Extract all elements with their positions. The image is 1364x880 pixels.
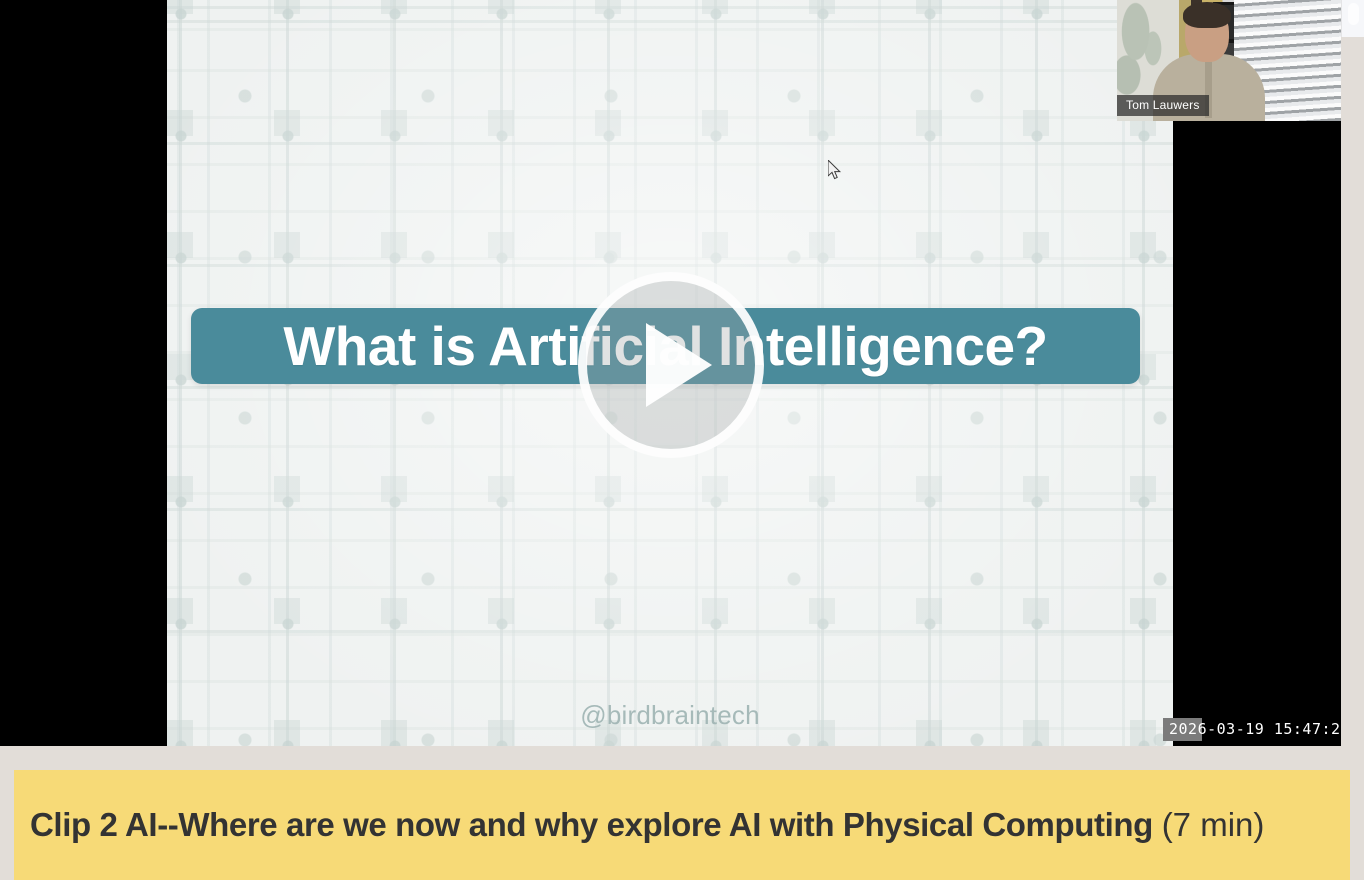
webcam-person-hair	[1183, 2, 1231, 28]
video-player-stage[interactable]: @birdbraintech What is Artificial Intell…	[0, 0, 1341, 746]
lesson-duration: (7 min)	[1162, 806, 1265, 843]
play-button[interactable]	[578, 272, 764, 458]
lesson-caption-text: Clip 2 AI--Where are we now and why expl…	[30, 806, 1264, 844]
timestamp-overlay: 2026-03-19 15:47:22	[1169, 720, 1341, 738]
webcam-pip[interactable]: Tom Lauwers	[1117, 0, 1341, 121]
lesson-caption-bar: Clip 2 AI--Where are we now and why expl…	[14, 770, 1350, 880]
scrollbar-thumb[interactable]	[1348, 3, 1359, 25]
webcam-participant-name: Tom Lauwers	[1117, 95, 1209, 116]
watermark-text: @birdbraintech	[167, 700, 1173, 731]
page-root: @birdbraintech What is Artificial Intell…	[0, 0, 1364, 880]
play-triangle-icon	[646, 323, 712, 407]
lesson-title: Clip 2 AI--Where are we now and why expl…	[30, 806, 1153, 843]
vertical-scrollbar[interactable]	[1341, 0, 1364, 37]
